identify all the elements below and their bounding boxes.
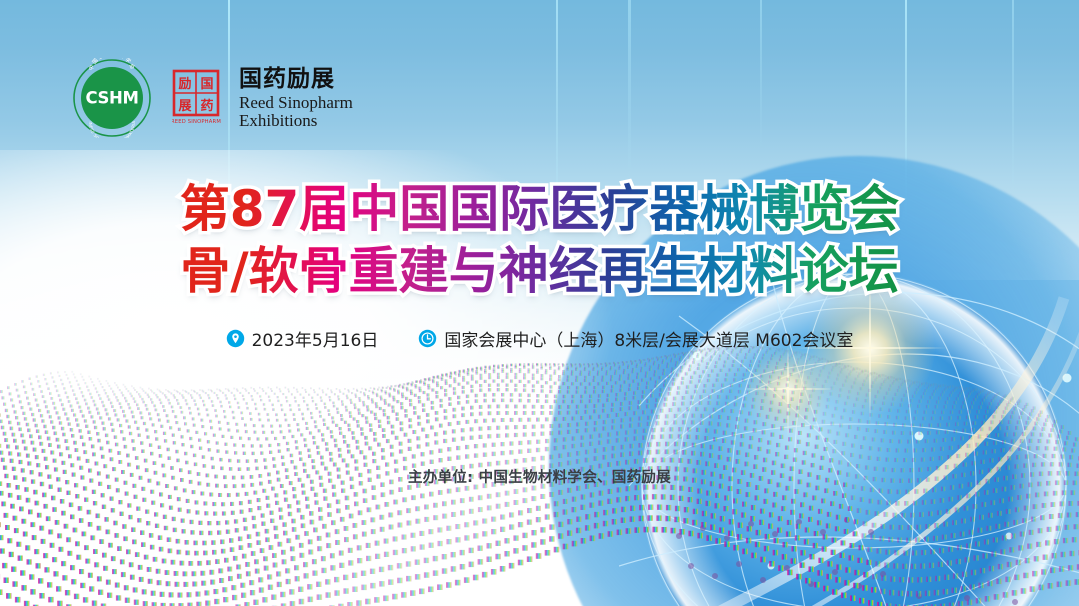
title-line-2: 骨/软骨重建与神经再生材料论坛 骨/软骨重建与神经再生材料论坛	[0, 240, 1079, 302]
organizer-line: 主办单位: 中国生物材料学会、国药励展	[0, 466, 1079, 487]
poster-titles: 第87届中国国际医疗器械博览会 第87届中国国际医疗器械博览会 骨/软骨重建与神…	[0, 178, 1079, 302]
event-venue-text: 国家会展中心（上海）8米层/会展大道层 M602会议室	[444, 326, 853, 351]
svg-text:CSHM: CSHM	[86, 89, 139, 108]
svg-text:药: 药	[200, 98, 213, 114]
title-line-2-text: 骨/软骨重建与神经再生材料论坛	[180, 242, 898, 300]
svg-text:国: 国	[200, 77, 213, 92]
sinopharm-seal-icon: 励 国 展 药 REED SINOPHARM	[172, 69, 230, 127]
title-line-1: 第87届中国国际医疗器械博览会 第87届中国国际医疗器械博览会	[0, 178, 1079, 240]
title-line-1-text: 第87届中国国际医疗器械博览会	[180, 180, 900, 238]
location-pin-icon	[226, 329, 245, 348]
logo-row: 中国生物材料学会 CHINESE SOCIETY FOR BIOMATERIAL…	[72, 58, 353, 138]
light-streak-icon	[760, 0, 762, 150]
svg-text:REED SINOPHARM: REED SINOPHARM	[172, 119, 221, 125]
light-streak-icon	[1012, 0, 1014, 200]
reed-sinopharm-logo: 励 国 展 药 REED SINOPHARM 国药励展 Reed Sinopha…	[172, 68, 353, 129]
sinopharm-en-line2: Exhibitions	[239, 112, 353, 129]
event-date: 2023年5月16日	[226, 326, 379, 351]
sinopharm-en-line1: Reed Sinopharm	[239, 94, 353, 111]
clock-icon	[418, 329, 437, 348]
event-meta: 2023年5月16日 国家会展中心（上海）8米层/会展大道层 M602会议室	[0, 326, 1079, 351]
light-streak-icon	[628, 0, 631, 180]
event-poster: 中国生物材料学会 CHINESE SOCIETY FOR BIOMATERIAL…	[0, 0, 1079, 606]
event-date-text: 2023年5月16日	[252, 326, 379, 351]
svg-text:励: 励	[178, 77, 191, 92]
cshm-society-logo: 中国生物材料学会 CHINESE SOCIETY FOR BIOMATERIAL…	[72, 58, 152, 138]
event-venue: 国家会展中心（上海）8米层/会展大道层 M602会议室	[418, 326, 853, 351]
svg-text:展: 展	[178, 99, 192, 114]
sinopharm-cn-name: 国药励展	[239, 68, 353, 91]
